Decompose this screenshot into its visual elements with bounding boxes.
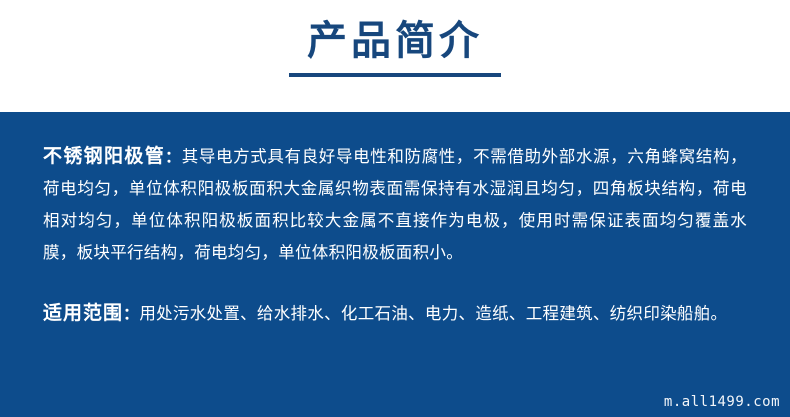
section-application-scope-text: 用处污水处置、给水排水、化工石油、电力、造纸、工程建筑、纺织印染船舶。 — [139, 304, 727, 323]
header-band: 产品简介 — [0, 0, 790, 112]
section-product-intro: 不锈钢阳极管：其导电方式具有良好导电性和防腐性，不需借助外部水源，六角蜂窝结构，… — [43, 140, 747, 269]
section-product-intro-colon: ： — [165, 147, 182, 166]
section-application-scope-colon: ： — [123, 304, 139, 323]
section-application-scope-lead: 适用范围 — [43, 302, 123, 324]
section-application-scope: 适用范围：用处污水处置、给水排水、化工石油、电力、造纸、工程建筑、纺织印染船舶。 — [43, 297, 747, 330]
section-product-intro-lead: 不锈钢阳极管 — [43, 145, 165, 167]
content-panel: 不锈钢阳极管：其导电方式具有良好导电性和防腐性，不需借助外部水源，六角蜂窝结构，… — [0, 112, 790, 417]
product-intro-banner: 产品简介 不锈钢阳极管：其导电方式具有良好导电性和防腐性，不需借助外部水源，六角… — [0, 0, 790, 417]
content-body: 不锈钢阳极管：其导电方式具有良好导电性和防腐性，不需借助外部水源，六角蜂窝结构，… — [43, 140, 747, 330]
site-watermark: m.all1499.com — [664, 394, 780, 410]
title-underline-divider — [289, 73, 501, 77]
page-title: 产品简介 — [307, 18, 483, 64]
